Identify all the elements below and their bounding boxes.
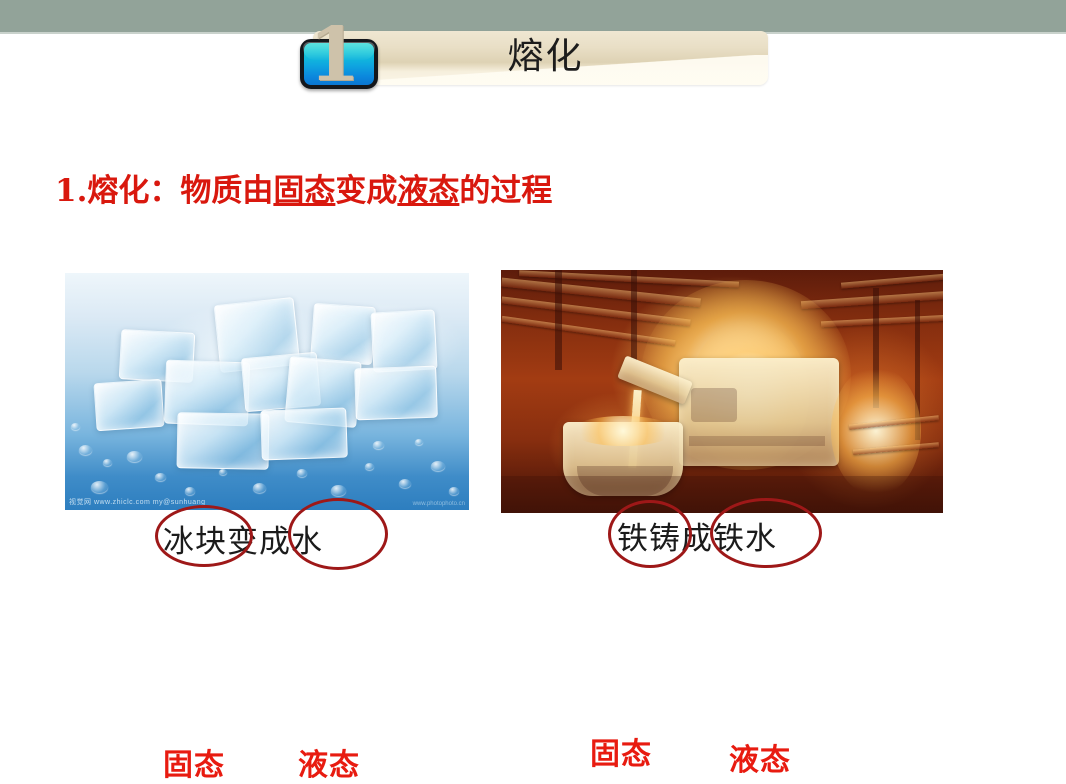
figure-ice-melting: 视觉网 www.zhiclc.com my@sunhuang www.photo… (65, 273, 469, 510)
ice-annotation-ellipse-solid (155, 505, 253, 567)
iron-label-liquid: 液态 (729, 735, 791, 779)
badge-number-label: 1 (297, 14, 389, 96)
definition-middle: 变成 (335, 173, 397, 209)
ice-label-liquid: 液态 (298, 740, 360, 784)
iron-annotation-ellipse-solid (608, 500, 692, 568)
ice-photo-watermark-left: 视觉网 www.zhiclc.com my@sunhuang (69, 497, 205, 507)
ice-photo-watermark-right: www.photophoto.cn (413, 501, 465, 507)
definition-term-solid: 固态 (273, 173, 335, 209)
definition-prefix: 1.熔化：物质由 (55, 173, 273, 209)
ice-annotation-ellipse-liquid (288, 498, 388, 570)
definition-term-liquid: 液态 (397, 173, 459, 209)
top-decorative-bar (0, 0, 1066, 32)
section-number-badge: 1 (297, 27, 389, 93)
definition-suffix: 的过程 (459, 173, 552, 209)
definition-text: 1.熔化：物质由固态变成液态的过程 (55, 165, 552, 210)
molten-iron-photo (501, 270, 943, 513)
iron-annotation-ellipse-liquid (710, 498, 822, 568)
ice-label-solid: 固态 (163, 740, 225, 784)
ice-cubes-photo: 视觉网 www.zhiclc.com my@sunhuang www.photo… (65, 273, 469, 510)
figure-iron-casting: 固态 液态 (501, 270, 943, 513)
iron-label-solid: 固态 (590, 729, 652, 773)
